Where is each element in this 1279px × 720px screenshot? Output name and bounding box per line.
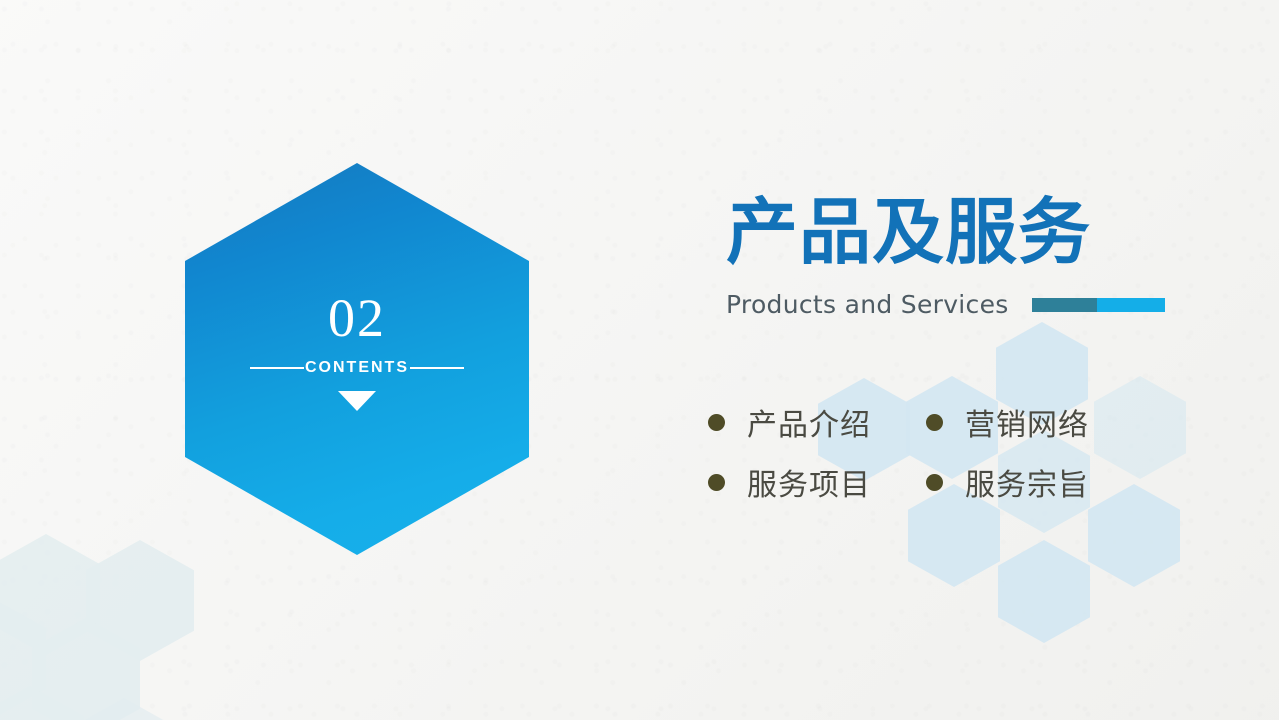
contents-rule-left [250, 367, 304, 369]
contents-label-row: CONTENTS [185, 359, 529, 377]
section-number: 02 [328, 291, 386, 345]
contents-label: CONTENTS [304, 359, 410, 377]
contents-rule-right [410, 367, 464, 369]
bullet-dot-icon [708, 414, 725, 431]
section-hexagon: 02 CONTENTS [185, 163, 529, 555]
accent-bar-segment-right [1097, 298, 1165, 312]
list-item-label: 服务宗旨 [965, 460, 1089, 504]
bullet-dot-icon [708, 474, 725, 491]
section-hexagon-content: 02 CONTENTS [185, 163, 529, 555]
list-item[interactable]: 服务宗旨 [926, 452, 1144, 512]
heading-block: 产品及服务 Products and Services [726, 196, 1146, 319]
caret-down-icon [338, 391, 376, 411]
list-item-label: 产品介绍 [747, 400, 871, 444]
hexagon-decoration [998, 540, 1090, 643]
list-item[interactable]: 产品介绍 [708, 392, 926, 452]
page-title: 产品及服务 [726, 196, 1146, 268]
accent-bar-segment-left [1032, 298, 1097, 312]
slide-canvas: 02 CONTENTS 产品及服务 Products and Services … [0, 0, 1279, 720]
page-subtitle: Products and Services [726, 290, 1009, 319]
bullet-dot-icon [926, 474, 943, 491]
list-item-label: 服务项目 [747, 460, 871, 504]
contents-list: 产品介绍 营销网络 服务项目 服务宗旨 [708, 392, 1138, 512]
bullet-dot-icon [926, 414, 943, 431]
honeycomb-decoration-right [880, 318, 1279, 720]
list-item-label: 营销网络 [965, 400, 1089, 444]
list-item[interactable]: 服务项目 [708, 452, 926, 512]
list-item[interactable]: 营销网络 [926, 392, 1144, 452]
accent-bar [1032, 298, 1165, 312]
subtitle-row: Products and Services [726, 290, 1146, 319]
